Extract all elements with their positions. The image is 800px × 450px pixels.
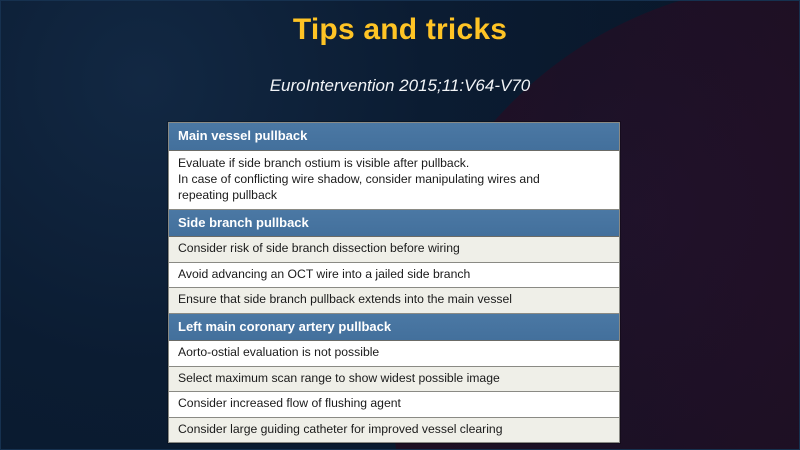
table-row-line: Avoid advancing an OCT wire into a jaile… [178, 267, 610, 283]
table-row-line: Consider risk of side branch dissection … [178, 241, 610, 257]
table-row-line: Consider large guiding catheter for impr… [178, 422, 610, 438]
citation-subtitle: EuroIntervention 2015;11:V64-V70 [0, 76, 800, 96]
table-row-line: Consider increased flow of flushing agen… [178, 396, 610, 412]
table-row-line: Aorto-ostial evaluation is not possible [178, 345, 610, 361]
table-row: Avoid advancing an OCT wire into a jaile… [169, 263, 619, 289]
table-row-line: repeating pullback [178, 187, 610, 203]
table-row-line: Evaluate if side branch ostium is visibl… [178, 155, 610, 171]
table-section-header: Left main coronary artery pullback [169, 314, 619, 342]
table-row: Consider increased flow of flushing agen… [169, 392, 619, 418]
table-row: Select maximum scan range to show widest… [169, 367, 619, 393]
table-row: Ensure that side branch pullback extends… [169, 288, 619, 314]
table-row: Consider risk of side branch dissection … [169, 237, 619, 263]
table-row-line: Ensure that side branch pullback extends… [178, 292, 610, 308]
table-row: Evaluate if side branch ostium is visibl… [169, 151, 619, 210]
table-row: Consider large guiding catheter for impr… [169, 418, 619, 444]
table-row-line: Select maximum scan range to show widest… [178, 371, 610, 387]
table-row: Aorto-ostial evaluation is not possible [169, 341, 619, 367]
table-row-line: In case of conflicting wire shadow, cons… [178, 171, 610, 187]
page-title: Tips and tricks [0, 13, 800, 47]
slide-canvas: Tips and tricks EuroIntervention 2015;11… [0, 0, 800, 450]
tips-table: Main vessel pullbackEvaluate if side bra… [168, 122, 620, 443]
table-section-header: Side branch pullback [169, 210, 619, 238]
table-section-header: Main vessel pullback [169, 123, 619, 151]
